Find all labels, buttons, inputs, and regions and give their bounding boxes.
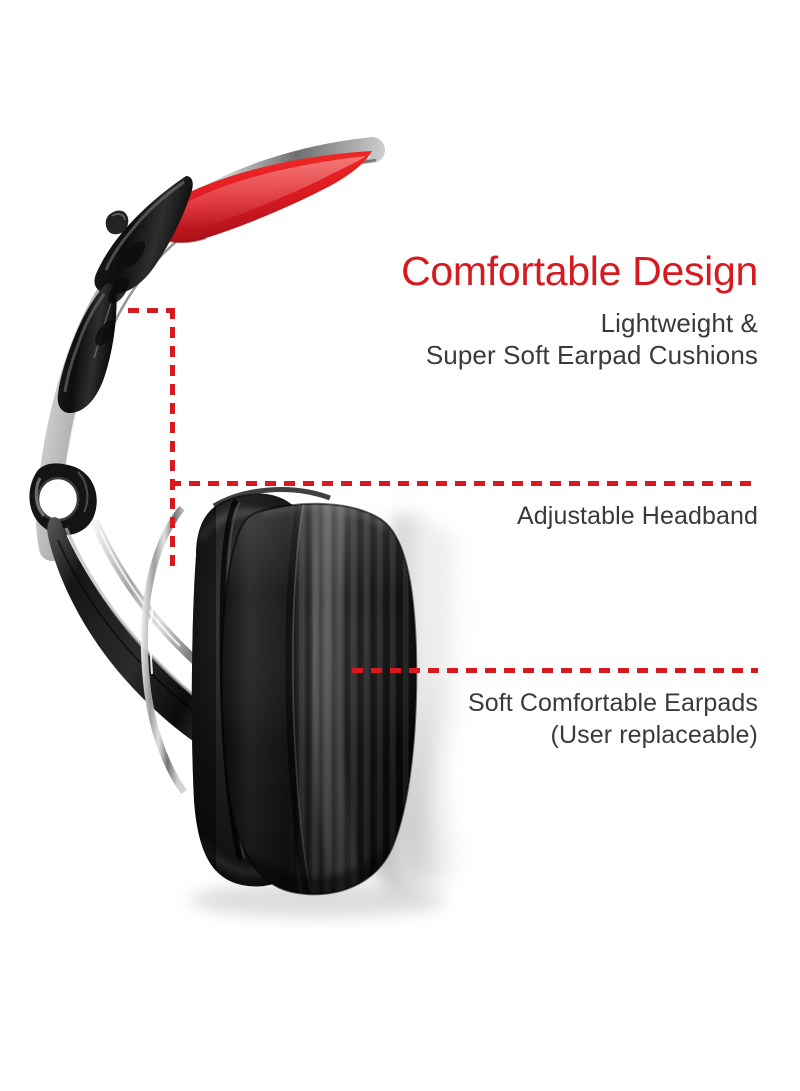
headband-slider-lower xyxy=(58,284,117,413)
infographic-canvas: Comfortable Design Lightweight & Super S… xyxy=(0,0,800,1091)
label-user-replaceable: (User replaceable) xyxy=(358,719,758,751)
leader-line-1-vertical xyxy=(170,308,175,572)
label-soft-comfortable-earpads: Soft Comfortable Earpads xyxy=(358,687,758,719)
leader-line-2-horizontal xyxy=(170,481,758,486)
subline-super-soft-earpad-cushions: Super Soft Earpad Cushions xyxy=(258,339,758,371)
headphone-product-photo xyxy=(0,0,800,1091)
subline-lightweight: Lightweight & xyxy=(258,307,758,339)
label-adjustable-headband: Adjustable Headband xyxy=(358,500,758,532)
leader-line-3-horizontal xyxy=(352,668,758,673)
leader-line-1-horizontal xyxy=(128,308,175,313)
headline-comfortable-design: Comfortable Design xyxy=(258,247,758,295)
